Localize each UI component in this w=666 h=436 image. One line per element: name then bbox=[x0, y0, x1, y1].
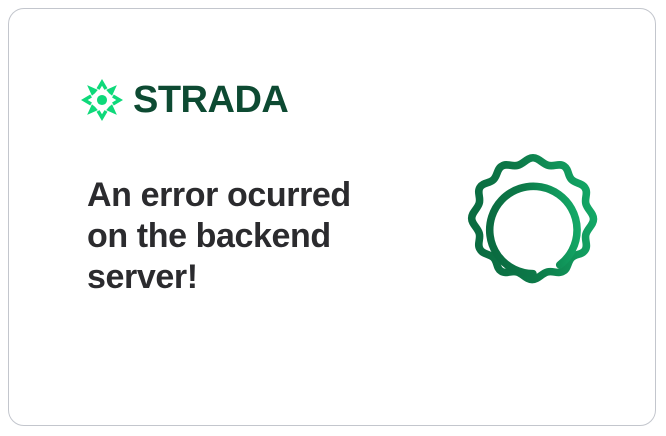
error-card: STRADA An error ocurred on the backend s… bbox=[8, 8, 656, 426]
starburst-icon bbox=[81, 79, 123, 121]
error-message: An error ocurred on the backend server! bbox=[87, 175, 387, 298]
brand-logo: STRADA bbox=[81, 79, 288, 121]
brand-name: STRADA bbox=[133, 81, 288, 119]
gear-cog-icon bbox=[449, 146, 617, 314]
